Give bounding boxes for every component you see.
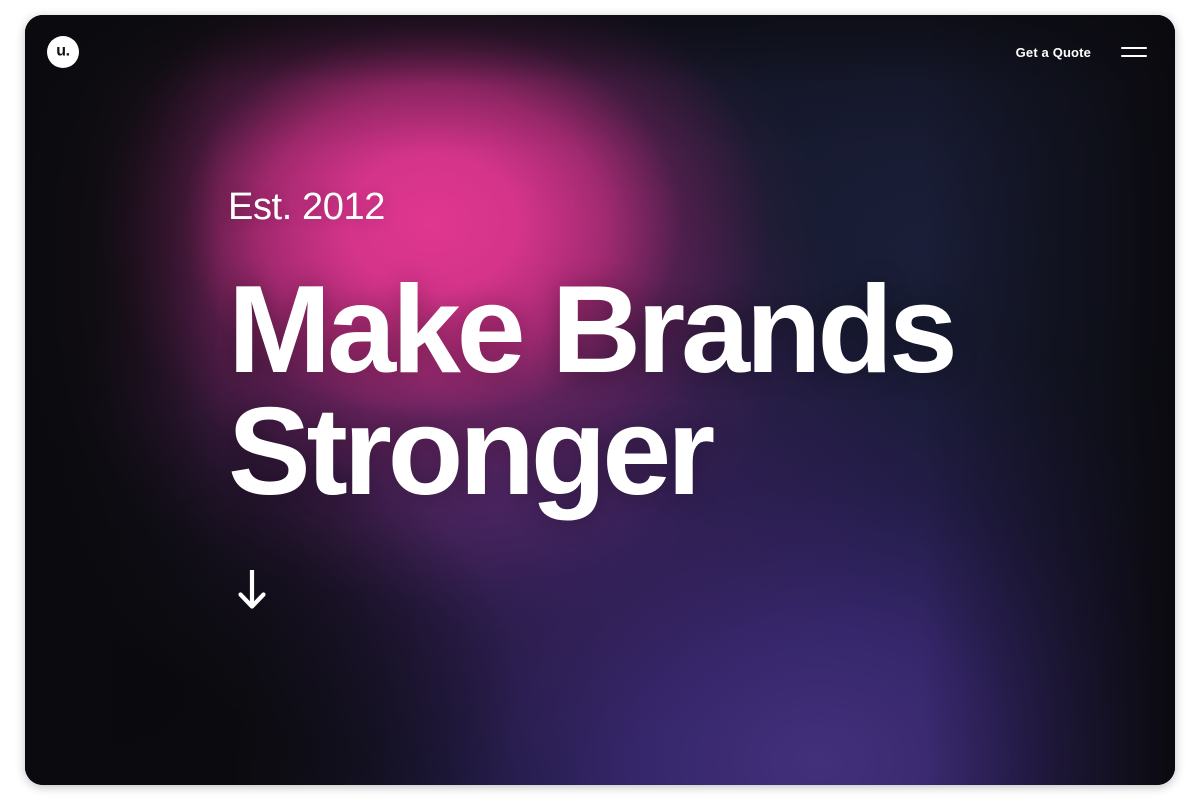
get-a-quote-link[interactable]: Get a Quote [1016, 45, 1091, 60]
site-header: u. Get a Quote [25, 15, 1175, 89]
brand-logo-mark: u. [56, 44, 69, 60]
arrow-down-icon[interactable] [232, 566, 272, 612]
hamburger-bar-2 [1121, 55, 1147, 57]
background-vignette [25, 15, 1175, 785]
brand-logo-circle[interactable]: u. [47, 36, 79, 68]
page-canvas: u. Get a Quote Est. 2012 Make Brands Str… [25, 15, 1175, 785]
hamburger-menu-icon[interactable] [1121, 44, 1147, 60]
header-actions: Get a Quote [1016, 44, 1147, 60]
hamburger-bar-1 [1121, 47, 1147, 49]
